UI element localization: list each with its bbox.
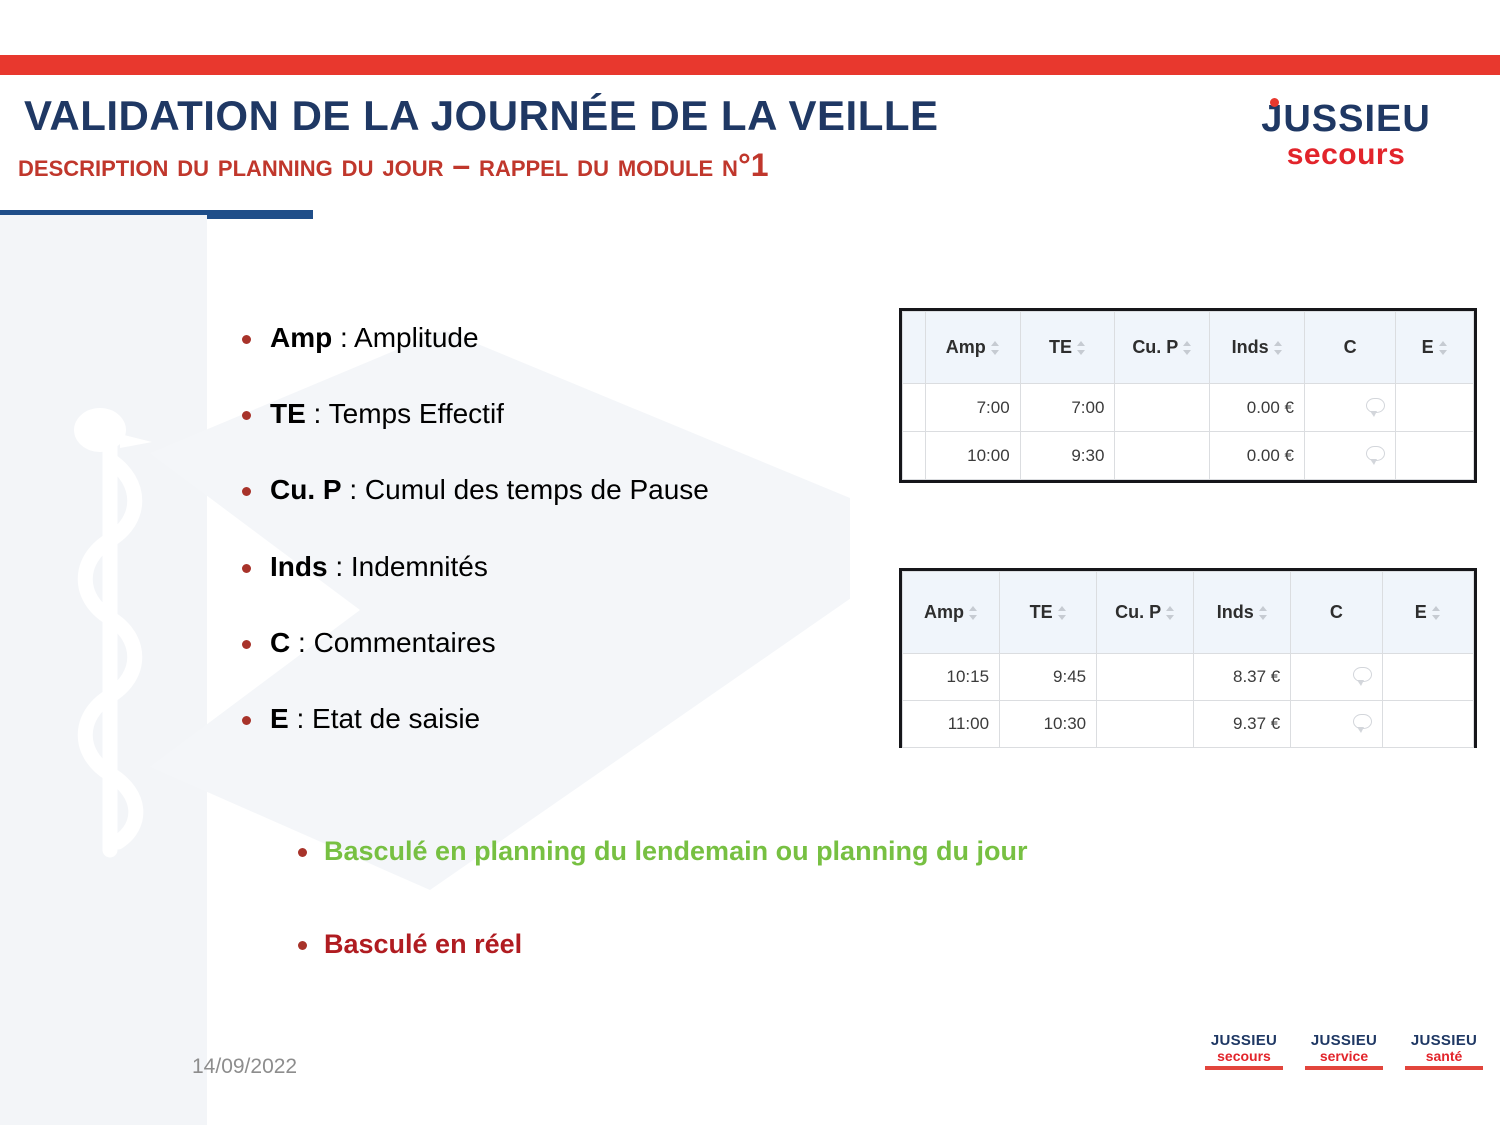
cell-amp: 10:00: [925, 432, 1020, 480]
column-header-label: E: [1422, 337, 1434, 358]
footer-logo-bottom-text: santé: [1405, 1049, 1483, 1064]
cell-state: [1396, 432, 1474, 480]
list-item-sep: :: [306, 398, 329, 429]
column-header-inds[interactable]: Inds: [1210, 312, 1305, 384]
list-item: Cu. P : Cumul des temps de Pause: [232, 474, 872, 506]
column-header-label: Amp: [924, 602, 964, 623]
list-item-key: Inds: [270, 551, 328, 582]
cell-state: [1382, 701, 1473, 748]
column-header-label: Amp: [946, 337, 986, 358]
sort-icon[interactable]: [1439, 341, 1448, 355]
cell-te: 10:30: [1000, 701, 1097, 748]
definition-list: Amp : Amplitude TE : Temps Effectif Cu. …: [232, 322, 872, 779]
comment-bubble-icon[interactable]: [1366, 446, 1385, 461]
list-item: E : Etat de saisie: [232, 703, 872, 735]
footer-logo-group: JUSSIEU secours JUSSIEU service JUSSIEU …: [1205, 1033, 1483, 1070]
cell-cup: [1097, 701, 1194, 748]
planning-table-green: Amp TE Cu. P Inds C E 7:00 7:00 0.00 €: [902, 311, 1474, 480]
column-header-label: E: [1415, 602, 1427, 623]
list-item-text: Etat de saisie: [312, 703, 480, 734]
page-subtitle: Description du planning du jour – Rappel…: [18, 147, 769, 184]
cell-amp: 10:15: [903, 654, 1000, 701]
footer-logo-rule: [1205, 1066, 1283, 1070]
table-sliver-column: [903, 312, 926, 384]
cell-inds: 9.37 €: [1194, 701, 1291, 748]
list-item-text: Cumul des temps de Pause: [365, 474, 709, 505]
cell-te: 9:45: [1000, 654, 1097, 701]
list-item-text: Commentaires: [314, 627, 496, 658]
column-header-label: TE: [1049, 337, 1072, 358]
footer-logo-top-text: JUSSIEU: [1205, 1033, 1283, 1049]
cell-cup: [1097, 654, 1194, 701]
list-item: TE : Temps Effectif: [232, 398, 872, 430]
list-item-sep: :: [332, 322, 354, 353]
footer-logo-service: JUSSIEU service: [1305, 1033, 1383, 1070]
footer-logo-rule: [1405, 1066, 1483, 1070]
column-header-label: Inds: [1232, 337, 1269, 358]
sort-icon[interactable]: [969, 606, 978, 620]
column-header-label: TE: [1030, 602, 1053, 623]
table-header-row: Amp TE Cu. P Inds C E: [903, 572, 1474, 654]
cell-state: [1382, 654, 1473, 701]
footer-logo-rule: [1305, 1066, 1383, 1070]
brand-logo: JUSSIEU secours: [1246, 100, 1446, 170]
column-header-label: Cu. P: [1132, 337, 1178, 358]
footer-logo-bottom-text: service: [1305, 1049, 1383, 1064]
footer-logo-top-text: JUSSIEU: [1405, 1033, 1483, 1049]
list-item-sep: :: [290, 627, 313, 658]
planning-table-red-screenshot: Amp TE Cu. P Inds C E 10:15 9:45 8.37 €: [899, 568, 1477, 748]
row-sliver-cell: [903, 432, 926, 480]
sort-icon[interactable]: [1183, 341, 1192, 355]
comment-bubble-icon[interactable]: [1353, 714, 1372, 729]
cell-te: 7:00: [1020, 384, 1115, 432]
list-item-key: Amp: [270, 322, 332, 353]
column-header-amp[interactable]: Amp: [925, 312, 1020, 384]
cell-comment[interactable]: [1305, 384, 1396, 432]
sort-icon[interactable]: [1259, 606, 1268, 620]
list-item-sep: :: [289, 703, 312, 734]
cell-amp: 7:00: [925, 384, 1020, 432]
comment-bubble-icon[interactable]: [1366, 398, 1385, 413]
state-legend-list: Basculé en planning du lendemain ou plan…: [290, 836, 1290, 1022]
table-header-row: Amp TE Cu. P Inds C E: [903, 312, 1474, 384]
comment-bubble-icon[interactable]: [1353, 667, 1372, 682]
planning-table-green-screenshot: Amp TE Cu. P Inds C E 7:00 7:00 0.00 €: [899, 308, 1477, 483]
table-row[interactable]: 10:00 9:30 0.00 €: [903, 432, 1474, 480]
list-item-sep: :: [342, 474, 365, 505]
cell-comment[interactable]: [1291, 701, 1382, 748]
column-header-te[interactable]: TE: [1000, 572, 1097, 654]
sort-icon[interactable]: [1166, 606, 1175, 620]
list-item: Amp : Amplitude: [232, 322, 872, 354]
column-header-te[interactable]: TE: [1020, 312, 1115, 384]
planning-table-red: Amp TE Cu. P Inds C E 10:15 9:45 8.37 €: [902, 571, 1474, 748]
footer-logo-top-text: JUSSIEU: [1305, 1033, 1383, 1049]
brand-logo-bottom-text: secours: [1246, 140, 1446, 170]
list-item-key: Cu. P: [270, 474, 342, 505]
cell-comment[interactable]: [1305, 432, 1396, 480]
list-item-sep: :: [328, 551, 351, 582]
cell-inds: 8.37 €: [1194, 654, 1291, 701]
slide-date: 14/09/2022: [192, 1055, 297, 1079]
sort-icon[interactable]: [1274, 341, 1283, 355]
row-sliver-cell: [903, 384, 926, 432]
list-item-key: E: [270, 703, 289, 734]
footer-logo-bottom-text: secours: [1205, 1049, 1283, 1064]
cell-inds: 0.00 €: [1210, 384, 1305, 432]
column-header-label: C: [1344, 337, 1357, 358]
page-title: VALIDATION DE LA JOURNÉE DE LA VEILLE: [24, 92, 939, 140]
table-row[interactable]: 11:00 10:30 9.37 €: [903, 701, 1474, 748]
list-item-state-red: Basculé en réel: [290, 929, 1290, 960]
cell-te: 9:30: [1020, 432, 1115, 480]
list-item: Inds : Indemnités: [232, 551, 872, 583]
sort-icon[interactable]: [1058, 606, 1067, 620]
list-item-key: C: [270, 627, 290, 658]
sort-icon[interactable]: [1432, 606, 1441, 620]
caduceus-watermark-icon: [48, 390, 178, 870]
column-header-c[interactable]: C: [1291, 572, 1382, 654]
footer-logo-sante: JUSSIEU santé: [1405, 1033, 1483, 1070]
list-item-state-green: Basculé en planning du lendemain ou plan…: [290, 836, 1290, 867]
list-item-key: TE: [270, 398, 306, 429]
cell-cup: [1115, 432, 1210, 480]
top-red-rule: [0, 55, 1500, 75]
list-item-text: Temps Effectif: [329, 398, 504, 429]
sort-icon[interactable]: [991, 341, 1000, 355]
column-header-cup[interactable]: Cu. P: [1097, 572, 1194, 654]
list-item-text: Indemnités: [351, 551, 488, 582]
cell-inds: 0.00 €: [1210, 432, 1305, 480]
cell-state: [1396, 384, 1474, 432]
table-row[interactable]: 7:00 7:00 0.00 €: [903, 384, 1474, 432]
column-header-label: Inds: [1217, 602, 1254, 623]
cell-cup: [1115, 384, 1210, 432]
column-header-label: Cu. P: [1115, 602, 1161, 623]
slide-canvas: VALIDATION DE LA JOURNÉE DE LA VEILLE De…: [0, 0, 1500, 1125]
column-header-e[interactable]: E: [1396, 312, 1474, 384]
brand-logo-name: JUSSIEU: [1261, 100, 1431, 138]
column-header-cup[interactable]: Cu. P: [1115, 312, 1210, 384]
list-item: C : Commentaires: [232, 627, 872, 659]
list-item-text: Amplitude: [354, 322, 479, 353]
brand-logo-top-text: JUSSIEU: [1261, 98, 1431, 140]
cell-comment[interactable]: [1291, 654, 1382, 701]
sort-icon[interactable]: [1077, 341, 1086, 355]
column-header-label: C: [1330, 602, 1343, 623]
column-header-inds[interactable]: Inds: [1194, 572, 1291, 654]
footer-logo-secours: JUSSIEU secours: [1205, 1033, 1283, 1070]
table-row[interactable]: 10:15 9:45 8.37 €: [903, 654, 1474, 701]
cell-amp: 11:00: [903, 701, 1000, 748]
column-header-c[interactable]: C: [1305, 312, 1396, 384]
column-header-amp[interactable]: Amp: [903, 572, 1000, 654]
column-header-e[interactable]: E: [1382, 572, 1473, 654]
